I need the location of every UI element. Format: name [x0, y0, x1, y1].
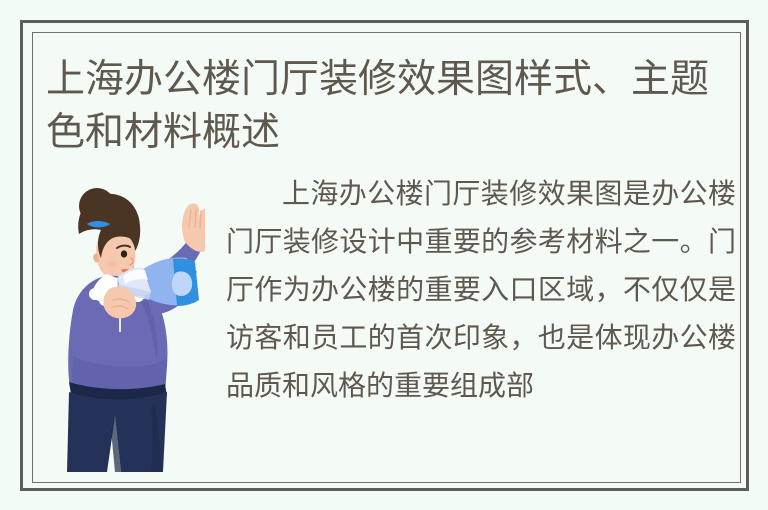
article-card-page: 上海办公楼门厅装修效果图样式、主题色和材料概述 [0, 0, 768, 510]
body-section: 上海办公楼门厅装修效果图是办公楼门厅装修设计中重要的参考材料之一。门厅作为办公楼… [33, 170, 740, 482]
pants [67, 382, 167, 472]
card-content: 上海办公楼门厅装修效果图样式、主题色和材料概述 [33, 33, 740, 482]
article-body-text: 上海办公楼门厅装修效果图是办公楼门厅装修设计中重要的参考材料之一。门厅作为办公楼… [226, 170, 736, 410]
page-title: 上海办公楼门厅装修效果图样式、主题色和材料概述 [46, 53, 736, 159]
woman-with-megaphone-illustration [55, 180, 205, 472]
